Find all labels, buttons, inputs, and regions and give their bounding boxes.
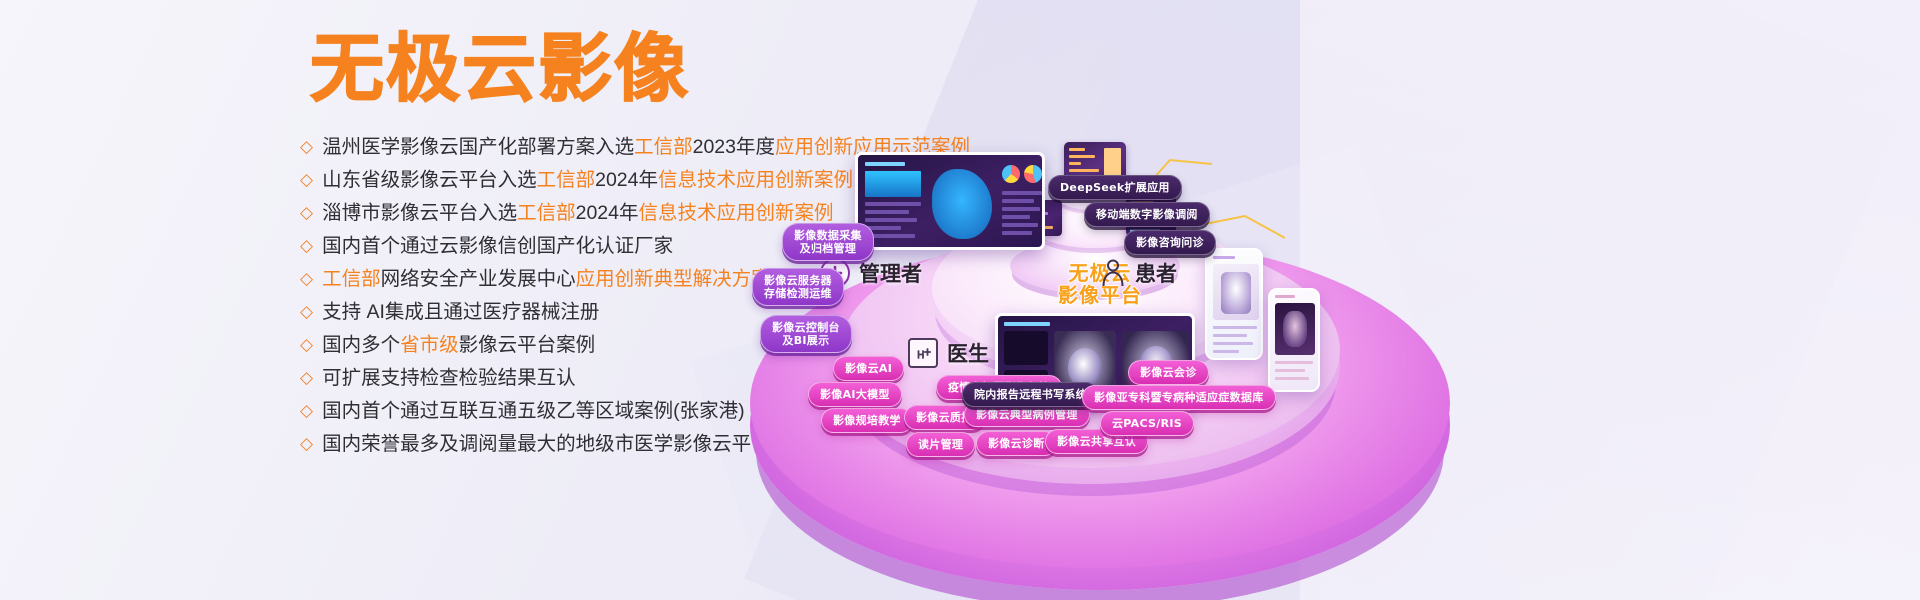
pill-influence-9[interactable]: 读片管理 [906, 432, 975, 457]
text-run: 工信部 [322, 268, 381, 290]
diamond-bullet-icon: ◇ [300, 398, 313, 424]
diamond-bullet-icon: ◇ [300, 431, 313, 457]
pill-influence-2[interactable]: 影像云控制台 及BI展示 [760, 315, 852, 353]
text-run: 工信部 [517, 202, 576, 224]
pill-line-2: 及归档管理 [794, 242, 862, 255]
pill-line-1: 移动端数字影像调阅 [1096, 208, 1198, 221]
text-run: 工信部 [537, 169, 596, 191]
achievement-text: 国内多个省市级影像云平台案例 [322, 332, 595, 358]
pill-line-1: 云PACS/RIS [1112, 417, 1182, 430]
text-run: 影像云平台案例 [459, 334, 596, 356]
pill-line-1: 影像AI大模型 [820, 388, 890, 401]
pill-influence-13[interactable]: 影像云会诊 [1128, 360, 1209, 385]
pill-line-1: DeepSeek扩展应用 [1060, 181, 1170, 194]
text-run: 网络安全产业发展中心 [381, 268, 576, 290]
banner-stage: 无极云影像 ◇温州医学影像云国产化部署方案入选工信部2023年度应用创新应用示范… [0, 0, 1920, 600]
pill-line-1: 影像云服务器 [764, 274, 832, 287]
text-run: 国内首个通过云影像信创国产化认证厂家 [322, 235, 673, 257]
role-patient[interactable]: 患者 [1100, 258, 1177, 288]
pill-influence-3[interactable]: 影像云AI [833, 356, 904, 381]
pill-line-2: 及BI展示 [772, 334, 840, 347]
text-run: 省市级 [400, 334, 459, 356]
role-label: 医生 [947, 338, 989, 368]
pill-influence-15[interactable]: 云PACS/RIS [1100, 411, 1194, 436]
pill-line-1: 影像云诊断 [988, 437, 1045, 450]
diamond-bullet-icon: ◇ [300, 365, 313, 391]
patient-person-icon [1100, 258, 1126, 288]
text-run: 国内多个 [322, 334, 400, 356]
pill-line-1: 院内报告远程书写系统 [974, 388, 1087, 401]
pill-line-1: 影像云控制台 [772, 321, 840, 334]
diamond-bullet-icon: ◇ [300, 266, 313, 292]
pill-influence-18[interactable]: 影像咨询问诊 [1124, 230, 1216, 255]
achievement-text: 国内首个通过互联互通五级乙等区域案例(张家港) [322, 398, 745, 424]
diamond-bullet-icon: ◇ [300, 200, 313, 226]
text-run: 工信部 [634, 136, 693, 158]
patient-mobile-viewer [1268, 288, 1320, 392]
doctor-badge-icon [908, 338, 938, 368]
text-run: 温州医学影像云国产化部署方案入选 [322, 136, 634, 158]
pill-line-1: 影像云AI [845, 362, 892, 375]
achievement-text: 支持 AI集成且通过医疗器械注册 [322, 299, 599, 325]
pill-line-1: 影像数据采集 [794, 229, 862, 242]
achievement-text: 国内首个通过云影像信创国产化认证厂家 [322, 233, 673, 259]
pill-influence-14[interactable]: 影像亚专科暨专病种适应症数据库 [1082, 385, 1276, 410]
pill-influence-12[interactable]: 院内报告远程书写系统 [962, 382, 1099, 407]
pill-influence-16[interactable]: DeepSeek扩展应用 [1048, 175, 1182, 200]
text-run: 2024年 [595, 169, 658, 191]
text-run: 2024年 [576, 202, 639, 224]
pill-line-1: 影像云共享互认 [1057, 435, 1136, 448]
pill-influence-0[interactable]: 影像数据采集 及归档管理 [782, 223, 874, 261]
pill-influence-6[interactable]: 影像规培教学 [821, 408, 913, 433]
text-run: 淄博市影像云平台入选 [322, 202, 517, 224]
diamond-bullet-icon: ◇ [300, 299, 313, 325]
text-run: 国内首个通过互联互通五级乙等区域案例(张家港) [322, 400, 745, 422]
pill-influence-17[interactable]: 移动端数字影像调阅 [1084, 202, 1210, 227]
page-title: 无极云影像 [310, 32, 940, 106]
pill-influence-1[interactable]: 影像云服务器 存储检测运维 [752, 268, 844, 306]
text-run: 山东省级影像云平台入选 [322, 169, 537, 191]
text-run: 支持 AI集成且通过医疗器械注册 [322, 301, 599, 323]
pill-line-2: 存储检测运维 [764, 287, 832, 300]
achievement-text: 可扩展支持检查检验结果互认 [322, 365, 576, 391]
pill-line-1: 影像咨询问诊 [1136, 236, 1204, 249]
diamond-bullet-icon: ◇ [300, 167, 313, 193]
pill-line-1: 影像亚专科暨专病种适应症数据库 [1094, 391, 1264, 404]
pill-line-1: 读片管理 [918, 438, 963, 451]
diamond-bullet-icon: ◇ [300, 233, 313, 259]
role-label: 管理者 [859, 258, 922, 288]
platform-architecture-diagram: 无极云 影像平台 [700, 120, 1920, 600]
diamond-bullet-icon: ◇ [300, 332, 313, 358]
pill-influence-4[interactable]: 影像AI大模型 [808, 382, 902, 407]
role-doctor[interactable]: 医生 [908, 338, 989, 368]
text-run: 可扩展支持检查检验结果互认 [322, 367, 576, 389]
pill-line-1: 影像规培教学 [833, 414, 901, 427]
pill-line-1: 影像云典型病例管理 [976, 408, 1078, 421]
patient-mobile-report [1205, 248, 1263, 360]
pill-line-1: 影像云会诊 [1140, 366, 1197, 379]
role-label: 患者 [1135, 258, 1177, 288]
diamond-bullet-icon: ◇ [300, 134, 313, 160]
admin-dashboard-screen [855, 152, 1045, 250]
